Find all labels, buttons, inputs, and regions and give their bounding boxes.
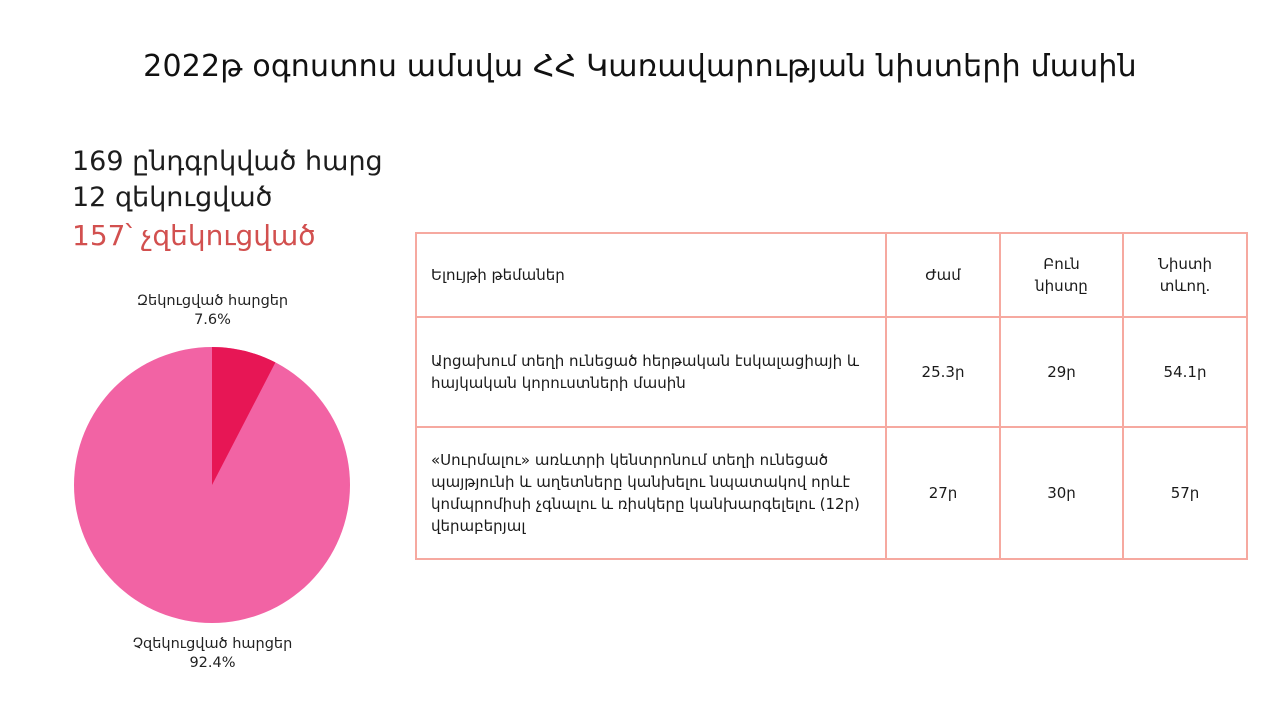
table-cell-main-session: 30ր [1000,427,1123,559]
pie-label-reported-percent: 7.6% [40,311,385,330]
pie-graphic [72,345,352,625]
pie-svg [72,345,352,625]
table-cell-duration: 57ր [1123,427,1247,559]
table-header-row: Ելույթի թեմաներ Ժամ Բուն նիստը Նիստի տևո… [416,233,1247,317]
table-row: Արցախում տեղի ունեցած հերթական էսկալացիա… [416,317,1247,427]
pie-label-reported: Զեկուցված հարցեր 7.6% [40,292,385,330]
table-header-duration: Նիստի տևող. [1123,233,1247,317]
summary-line-reported: 12 զեկուցված [72,180,412,216]
page-title: 2022թ օգոստոս ամսվա ՀՀ Կառավարության նիս… [0,48,1280,86]
table-cell-topic: «Սուրմալու» առևտրի կենտրոնում տեղի ունեց… [416,427,886,559]
pie-label-unreported: Չզեկուցված հարցեր 92.4% [40,635,385,673]
pie-label-reported-name: Զեկուցված հարցեր [137,293,288,309]
table-cell-time: 27ր [886,427,1000,559]
summary-line-unreported: 157՝ չզեկուցված [72,216,412,256]
table-cell-duration: 54.1ր [1123,317,1247,427]
table-cell-main-session: 29ր [1000,317,1123,427]
table-header-main-session: Բուն նիստը [1000,233,1123,317]
table-cell-time: 25.3ր [886,317,1000,427]
pie-label-unreported-percent: 92.4% [40,654,385,673]
pie-chart: Զեկուցված հարցեր 7.6% Չզեկուցված հարցեր … [40,292,385,672]
table-header-time: Ժամ [886,233,1000,317]
summary-line-total: 169 ընդգրկված հարց [72,144,412,180]
summary-block: 169 ընդգրկված հարց 12 զեկուցված 157՝ չզե… [72,144,412,256]
pie-label-unreported-name: Չզեկուցված հարցեր [133,636,293,652]
sessions-table: Ելույթի թեմաներ Ժամ Բուն նիստը Նիստի տևո… [415,232,1248,560]
table-cell-topic: Արցախում տեղի ունեցած հերթական էսկալացիա… [416,317,886,427]
table-row: «Սուրմալու» առևտրի կենտրոնում տեղի ունեց… [416,427,1247,559]
table-header-topic: Ելույթի թեմաներ [416,233,886,317]
